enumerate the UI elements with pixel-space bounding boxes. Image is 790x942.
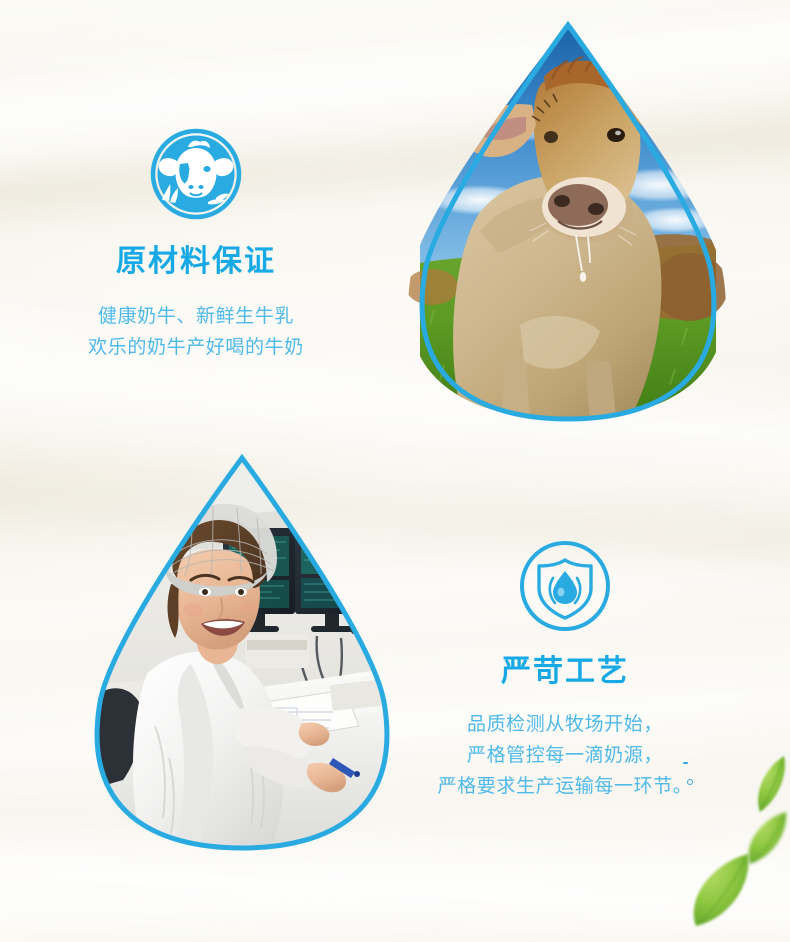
green-leaf-decoration [676, 846, 762, 932]
cow-head-icon [150, 128, 242, 220]
lab-photo-svg [95, 458, 389, 848]
lab-technician-photo [95, 458, 389, 848]
speck-artifact [687, 779, 693, 785]
feature-block-materials: 原材料保证 健康奶牛、新鲜生牛乳 欢乐的奶牛产好喝的牛奶 [36, 128, 356, 364]
speck-artifact [683, 762, 688, 764]
shield-droplet-icon [519, 540, 611, 632]
droplet-photo-clip [95, 458, 391, 848]
feature-description-line: 严格要求生产运输每一环节。 [398, 772, 732, 803]
feature-block-process: 严苛工艺 品质检测从牧场开始， 严格管控每一滴奶源， 严格要求生产运输每一环节。 [398, 540, 732, 802]
feature-description-line: 健康奶牛、新鲜生牛乳 [36, 302, 356, 333]
product-feature-page: 原材料保证 健康奶牛、新鲜生牛乳 欢乐的奶牛产好喝的牛奶 严苛工艺 品质检测从牧… [0, 0, 790, 942]
feature-title: 严苛工艺 [398, 654, 732, 690]
feature-description-line: 品质检测从牧场开始， [398, 710, 732, 741]
cow-photo-svg [420, 25, 716, 419]
feature-title: 原材料保证 [36, 244, 356, 280]
cow-in-pasture-photo [420, 25, 716, 419]
droplet-photo-clip [406, 25, 728, 419]
feature-description-line: 严格管控每一滴奶源， [398, 741, 732, 772]
feature-description-line: 欢乐的奶牛产好喝的牛奶 [36, 333, 356, 364]
